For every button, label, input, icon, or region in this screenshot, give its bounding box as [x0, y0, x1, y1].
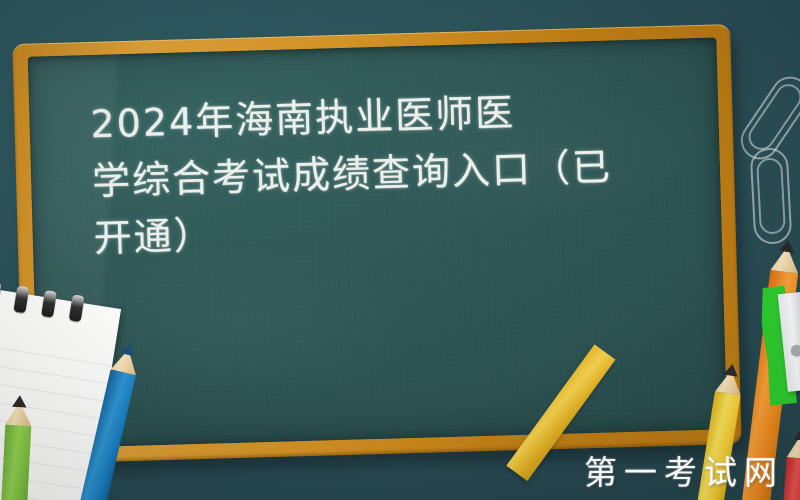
paper-clip-lower-inner-icon [756, 157, 786, 234]
green-pencil-tip [6, 395, 33, 408]
notebook-spiral-ring [69, 294, 85, 322]
site-watermark: 第一考试网 [584, 446, 784, 494]
sharpener-hole [790, 344, 800, 357]
red-pencil-tip [788, 427, 800, 441]
banner-image: 2024年海南执业医师医 学综合考试成绩查询入口（已 开通） [0, 0, 800, 500]
chalk-text-block: 2024年海南执业医师医 学综合考试成绩查询入口（已 开通） [90, 80, 695, 268]
red-pencil-wood [787, 427, 800, 459]
orange-pencil-tip [773, 238, 800, 253]
notebook-spiral-ring [41, 290, 57, 318]
green-pencil-shaft [0, 425, 31, 500]
notebook-spiral-ring [13, 286, 29, 314]
